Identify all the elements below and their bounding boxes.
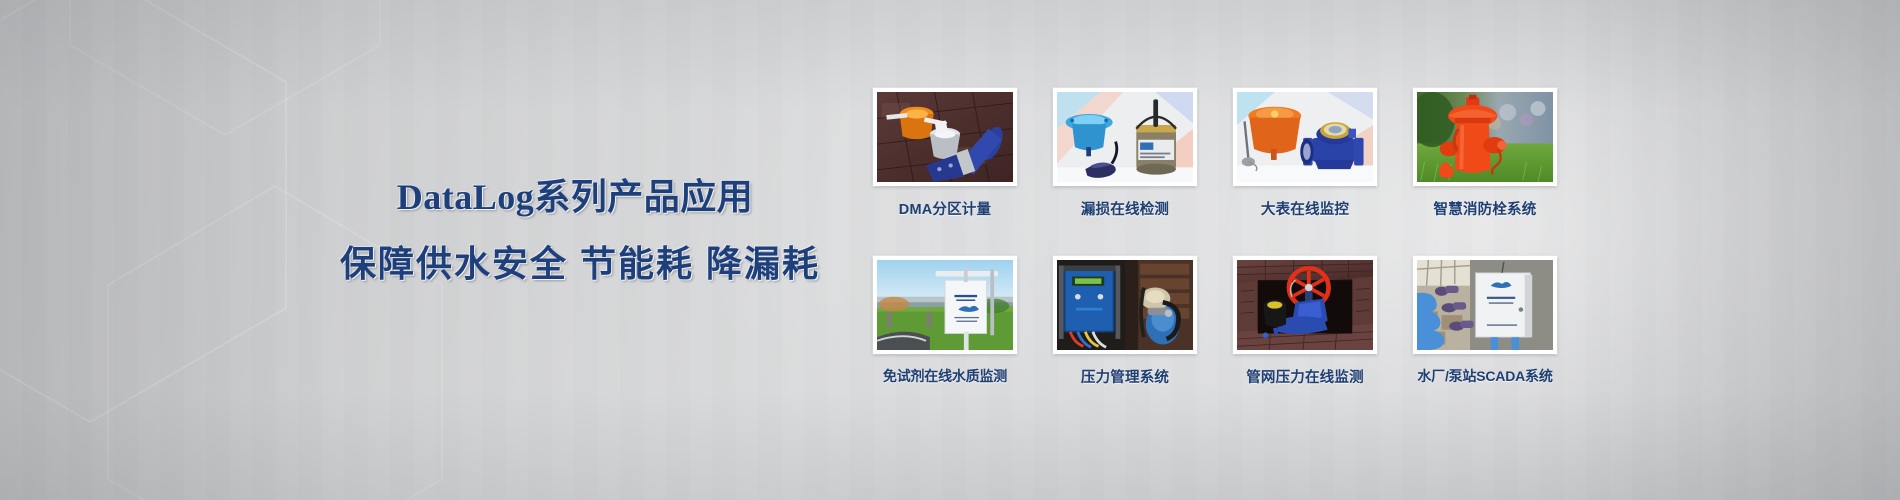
scada-system-photo [1417, 260, 1553, 350]
product-caption: 智慧消防栓系统 [1395, 198, 1575, 219]
thumbnail-frame [1233, 88, 1377, 186]
pipe-pressure-monitoring-photo [1237, 260, 1373, 350]
product-caption: 压力管理系统 [1035, 366, 1215, 387]
product-caption: 漏损在线检测 [1035, 198, 1215, 219]
product-caption: 大表在线监控 [1215, 198, 1395, 219]
thumbnail-frame [1413, 256, 1557, 354]
reagent-free-water-quality-photo [877, 260, 1013, 350]
product-caption: 水厂/泵站SCADA系统 [1395, 366, 1575, 386]
thumbnail-frame [873, 256, 1017, 354]
large-meter-monitoring-photo [1237, 92, 1373, 182]
smart-hydrant-photo [1417, 92, 1553, 182]
pressure-management-photo [1057, 260, 1193, 350]
product-caption: 免试剂在线水质监测 [855, 366, 1035, 386]
headline-block: DataLog系列产品应用 保障供水安全 节能耗 降漏耗 [340, 178, 810, 283]
product-thumbnail-grid: DMA分区计量 [855, 88, 1575, 424]
thumbnail-frame [873, 88, 1017, 186]
product-card[interactable]: DMA分区计量 [855, 88, 1035, 256]
leak-detection-photo [1057, 92, 1193, 182]
thumbnail-frame [1053, 88, 1197, 186]
product-card[interactable]: 水厂/泵站SCADA系统 [1395, 256, 1575, 424]
product-card[interactable]: 大表在线监控 [1215, 88, 1395, 256]
thumbnail-frame [1053, 256, 1197, 354]
product-card[interactable]: 压力管理系统 [1035, 256, 1215, 424]
thumbnail-frame [1233, 256, 1377, 354]
product-caption: DMA分区计量 [855, 198, 1035, 219]
headline-line-1: DataLog系列产品应用 [340, 178, 810, 218]
product-card[interactable]: 智慧消防栓系统 [1395, 88, 1575, 256]
thumbnail-frame [1413, 88, 1557, 186]
product-caption: 管网压力在线监测 [1215, 366, 1395, 387]
product-application-banner: DataLog系列产品应用 保障供水安全 节能耗 降漏耗 [0, 0, 1900, 500]
headline-line-2: 保障供水安全 节能耗 降漏耗 [340, 244, 810, 284]
product-card[interactable]: 漏损在线检测 [1035, 88, 1215, 256]
dma-metering-photo [877, 92, 1013, 182]
product-card[interactable]: 管网压力在线监测 [1215, 256, 1395, 424]
product-card[interactable]: 免试剂在线水质监测 [855, 256, 1035, 424]
